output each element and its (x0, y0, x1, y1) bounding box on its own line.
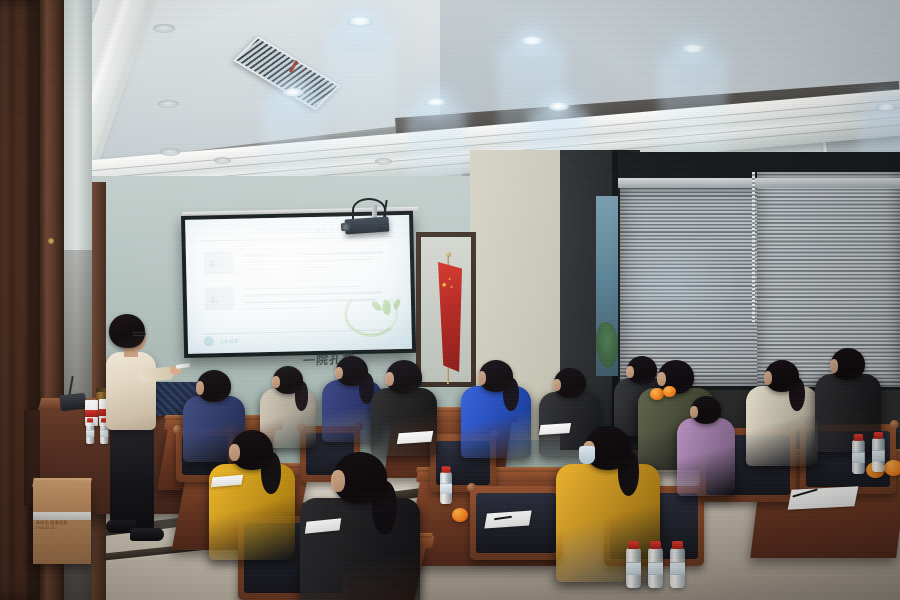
attendee-orange-vest-cheek (626, 366, 634, 378)
ceiling-downlight-off (158, 100, 179, 108)
bottle-cap (87, 418, 93, 422)
attendee-lilac-apron-cheek (690, 406, 698, 418)
bottle-label (648, 562, 663, 575)
orange-fruit (884, 460, 900, 476)
attendee-yellow-masked-torso-shade (556, 464, 660, 582)
attendee-black-right-back-cheek (385, 372, 394, 386)
attendee-navy-back-row-cheek (196, 381, 205, 394)
bottle-cap (672, 541, 683, 549)
handout-paper[interactable] (788, 486, 859, 509)
bottle-label (440, 483, 452, 493)
water-bottle (86, 422, 94, 444)
attendee-black-hoodie-cheek (331, 470, 345, 492)
ceiling-downlight (520, 36, 544, 46)
attendee-yellow-masked-face-mask (579, 446, 595, 464)
attendee-black-right-edge-cheek (830, 359, 839, 372)
bottle-cap (442, 466, 451, 472)
chair-knob (890, 420, 899, 429)
water-bottle (872, 438, 885, 472)
attendee-cream-scarf-cheek (272, 376, 280, 388)
slide-bullet-number-1: 1、 (209, 258, 222, 269)
flag-star: ★ (450, 286, 453, 290)
plant-silhouette (596, 322, 618, 368)
attendee-blue-jacket-cheek (478, 371, 487, 384)
bottle-label (852, 452, 865, 463)
bottle-label (86, 430, 94, 437)
blind-cord[interactable] (752, 172, 755, 322)
water-bottle (440, 472, 452, 504)
attendee-navy-center-cheek (335, 367, 343, 380)
projection-screen-surface: 工作任务的目标与重点内容 1、 2、 卫生健康 (185, 215, 412, 354)
cardboard-box-tape (33, 512, 91, 520)
bottle-label (670, 562, 685, 575)
projection-screen[interactable]: 工作任务的目标与重点内容 1、 2、 卫生健康 (181, 211, 416, 358)
slide-leaf-ring-graphic (343, 290, 398, 337)
chair-knob (467, 483, 476, 492)
meeting-room-photo: 工作任务的目标与重点内容 1、 2、 卫生健康 一院孔举 (0, 0, 900, 600)
presenter-glasses (133, 332, 146, 336)
cardboard-box-label: 易碎品 轻拿轻放 FRAGILE (36, 520, 88, 530)
presenter-sweater (106, 352, 156, 430)
projector-lens (341, 223, 351, 232)
ceiling-downlight (681, 44, 705, 54)
bottle-cap (628, 541, 639, 549)
attendee-dark-olive-cheek (553, 379, 561, 392)
door-knob[interactable] (48, 238, 54, 244)
flag-star: ★ (441, 282, 447, 289)
window-daylight-glow (624, 244, 744, 344)
orange-fruit (650, 388, 664, 400)
bottle-cap (874, 432, 883, 439)
water-bottle (670, 548, 685, 588)
presenter-shoe (130, 528, 164, 541)
slide-logo-mark (203, 337, 213, 347)
ceiling-downlight-off (375, 158, 392, 165)
ceiling-downlight-off (153, 24, 175, 33)
flag-star: ★ (448, 278, 451, 282)
orange-fruit (452, 508, 468, 522)
ceiling-projector (345, 216, 390, 234)
window-blinds-secondary[interactable] (757, 172, 900, 387)
attendee-olive-apron-cheek (657, 372, 666, 386)
ceiling-downlight (425, 98, 446, 107)
attendee-black-hoodie-torso-shade (300, 498, 420, 600)
blind-headrail (618, 178, 900, 188)
attendee-black-right-back-torso-shade (371, 388, 437, 456)
attendee-yellow-front-cheek (229, 444, 240, 461)
water-bottle (852, 440, 865, 474)
water-bottle (626, 548, 641, 588)
attendee-cream-puffer-cheek (764, 371, 773, 384)
water-bottle (648, 548, 663, 588)
chair-knob (173, 425, 182, 434)
bottle-label (872, 450, 885, 461)
ceiling-downlight-off (160, 148, 180, 156)
microphone-base (59, 393, 87, 412)
bottle-label (100, 430, 108, 437)
presenter-hair (109, 314, 145, 348)
ceiling-downlight (548, 102, 569, 111)
attendee-blue-jacket-torso-shade (461, 386, 531, 458)
bottle-label (626, 562, 641, 575)
presenter-legs (110, 424, 154, 529)
ceiling-downlight (876, 103, 896, 112)
slide-logo-text: 卫生健康 (219, 339, 239, 345)
slide-bullet-number-2: 2、 (210, 294, 223, 305)
attendee-lilac-apron-torso-shade (677, 418, 735, 496)
ceiling-downlight-off (214, 157, 231, 164)
bottle-cap (854, 434, 863, 441)
attendee-cream-puffer-torso-shade (746, 386, 818, 466)
ceiling-downlight (347, 16, 373, 27)
ceiling-downlight (282, 88, 304, 97)
bottle-cap (650, 541, 661, 549)
slide-title-rule (201, 237, 394, 242)
